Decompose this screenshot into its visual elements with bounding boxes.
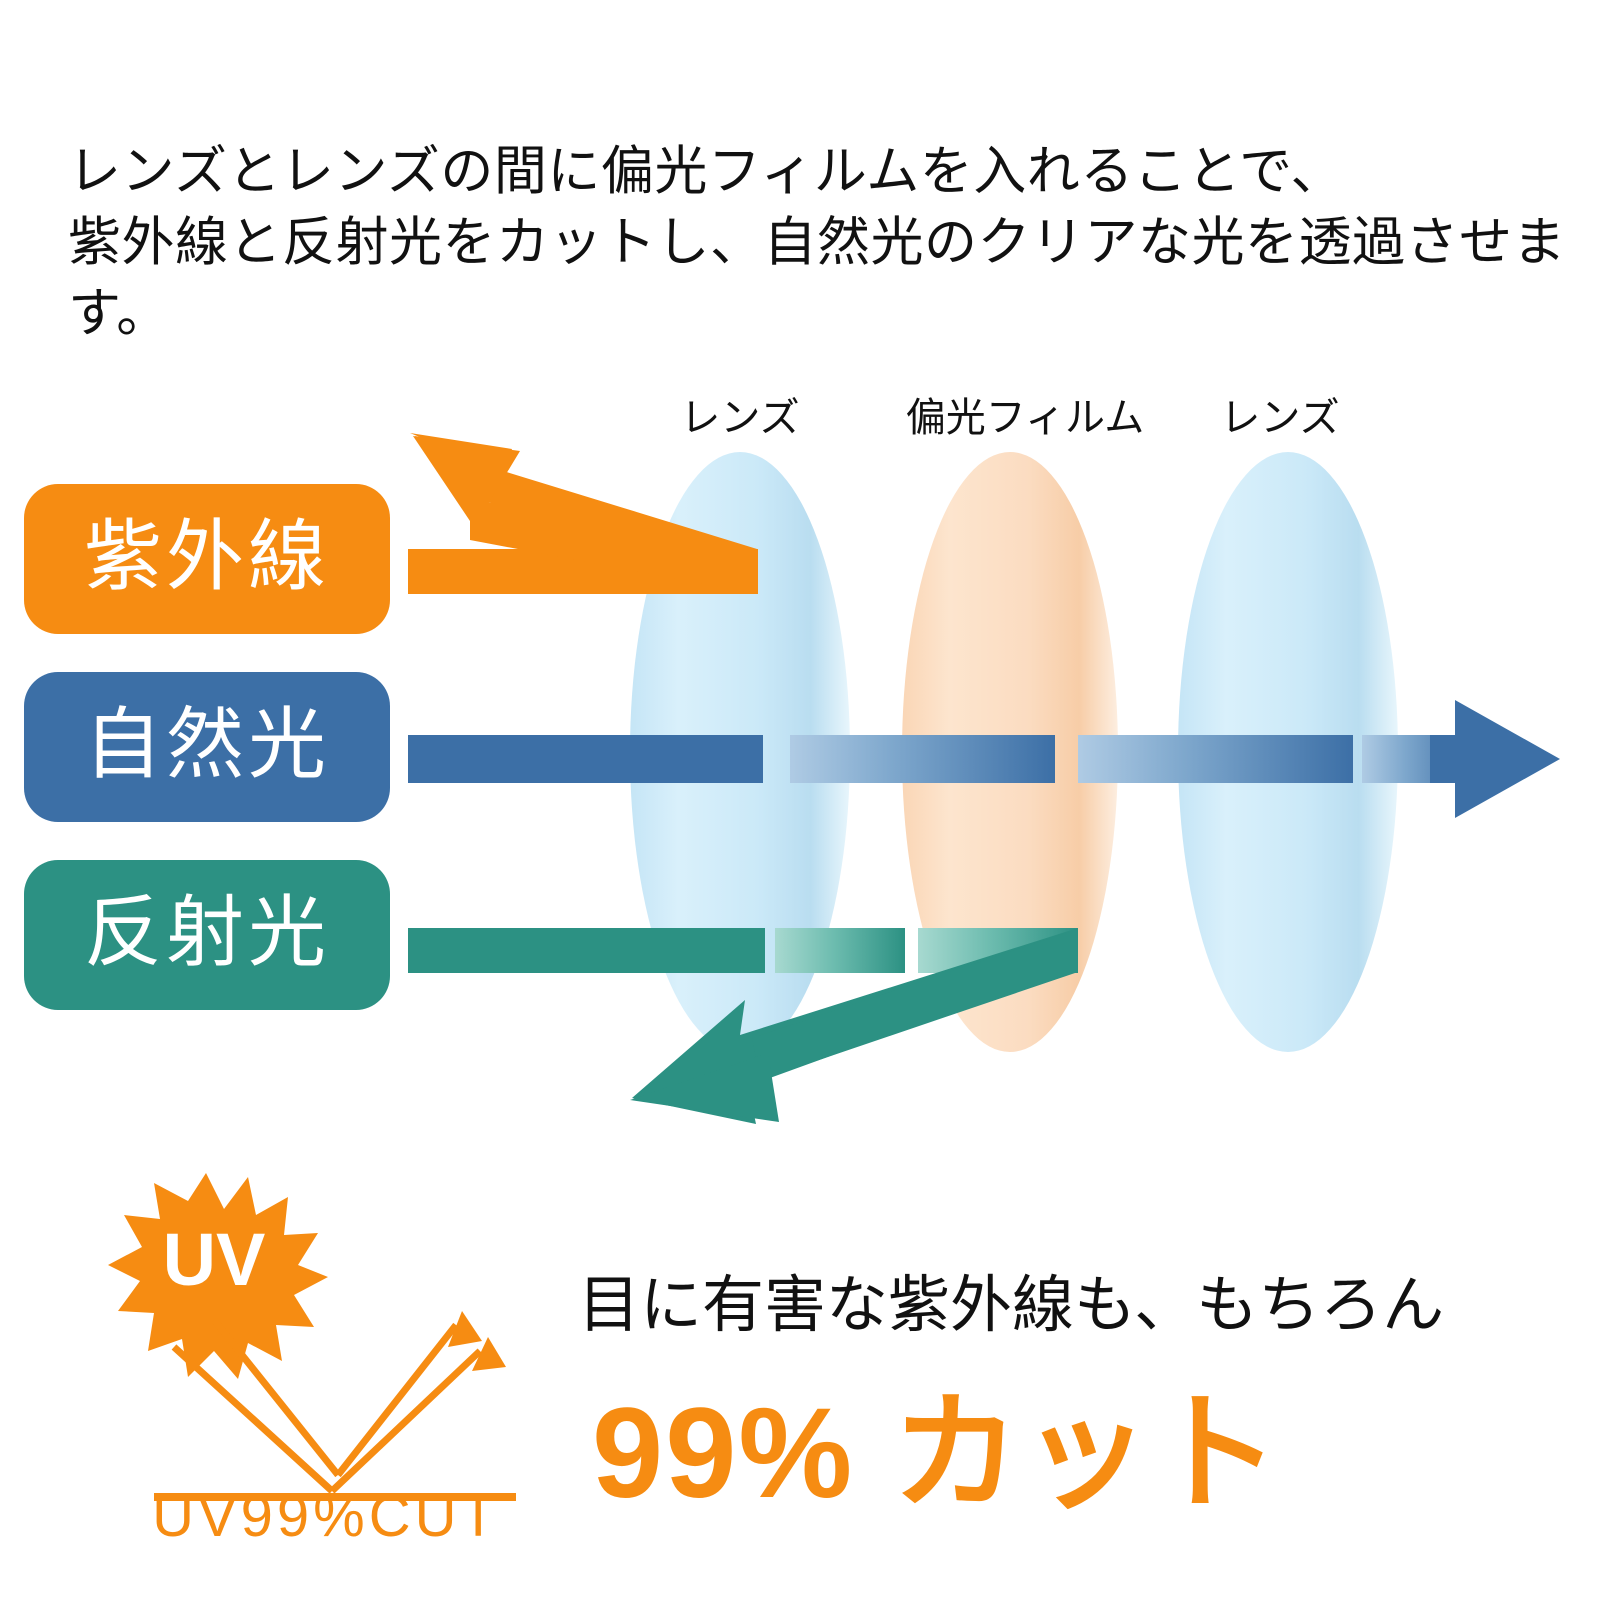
legend-chip-natural-light: 自然光	[24, 672, 390, 822]
uv-ray-arrowheads	[448, 1311, 506, 1371]
legend-chip-reflected-light: 反射光	[24, 860, 390, 1010]
infographic-root: レンズとレンズの間に偏光フィルムを入れることで、 紫外線と反射光をカットし、自然…	[0, 0, 1600, 1600]
legend-chip-ultraviolet: 紫外線	[24, 484, 390, 634]
uv-sunburst-text: UV	[163, 1218, 266, 1301]
footer-headline: 99% カット	[592, 1390, 1592, 1518]
uv-reflected-rays	[332, 1325, 480, 1491]
legend-chip-reflect-label: 反射光	[84, 893, 330, 971]
legend-chip-uv-label: 紫外線	[84, 517, 330, 595]
legend-chip-natural-label: 自然光	[84, 705, 330, 783]
footer-tagline: 目に有害な紫外線も、もちろん	[578, 1275, 1578, 1337]
uv99-cut-caption: UV99%CUT	[96, 1488, 556, 1546]
uv-sunburst-icon: UV	[108, 1173, 328, 1379]
